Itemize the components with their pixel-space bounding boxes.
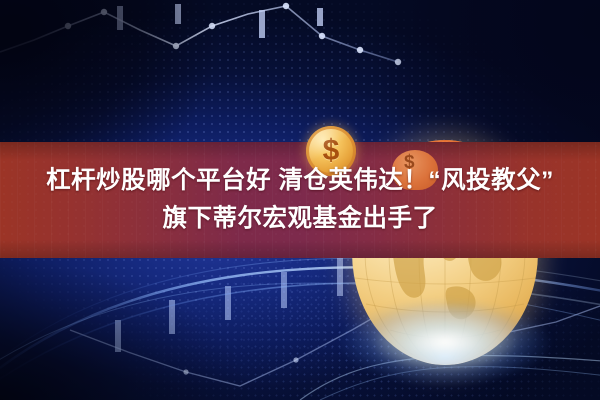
stock-news-banner: $ $ 杠杆炒股哪个平台好 清仓英伟达！“风投教父” 旗下蒂尔宏观基金出手了: [0, 0, 600, 400]
headline-text-block: 杠杆炒股哪个平台好 清仓英伟达！“风投教父” 旗下蒂尔宏观基金出手了: [0, 0, 600, 400]
headline-line-2: 旗下蒂尔宏观基金出手了: [163, 201, 438, 237]
headline-line-1: 杠杆炒股哪个平台好 清仓英伟达！“风投教父”: [46, 163, 554, 199]
